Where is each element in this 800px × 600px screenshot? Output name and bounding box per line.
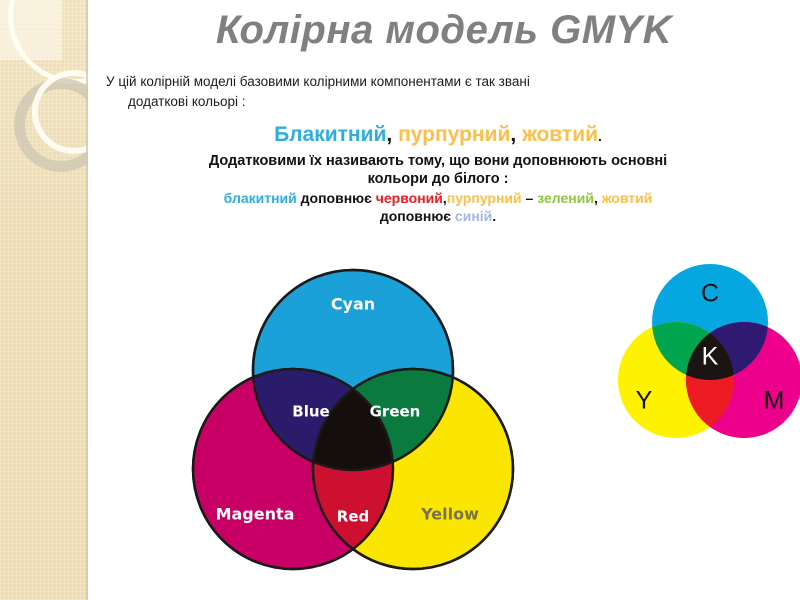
pair-word-magenta: пурпурний bbox=[447, 190, 522, 206]
venn-small-label-c: C bbox=[701, 280, 719, 308]
venn-small-label-k: K bbox=[702, 343, 719, 371]
venn-small-svg: C Y M K bbox=[618, 260, 800, 460]
venn-large-svg: Cyan Magenta Yellow Blue Green Red bbox=[188, 262, 518, 577]
pair-word-green: зелений bbox=[537, 190, 594, 206]
venn-label-magenta: Magenta bbox=[216, 505, 295, 524]
pair-text-complements-1: доповнює bbox=[297, 190, 376, 206]
venn-label-green: Green bbox=[370, 403, 421, 421]
primary-word-cyan: Блакитний bbox=[274, 123, 386, 146]
primary-word-yellow: жовтий bbox=[522, 123, 598, 146]
pair-word-blue: синій bbox=[455, 208, 492, 224]
pairs-line-2: доповнює синій. bbox=[108, 208, 768, 226]
pairs-line-1: блакитний доповнює червоний,пурпурний – … bbox=[108, 190, 768, 208]
venn-label-blue: Blue bbox=[292, 403, 329, 421]
statement-block: Блакитний, пурпурний, жовтий. Додатковим… bbox=[108, 122, 768, 226]
primaries-separator-1: , bbox=[386, 123, 398, 146]
pair-dash: – bbox=[522, 190, 538, 206]
venn-label-red: Red bbox=[337, 508, 369, 526]
intro-paragraph: У цій колірній моделі базовими колірними… bbox=[106, 72, 736, 111]
explanation-line-2: кольори до білого : bbox=[108, 170, 768, 189]
intro-line-1: У цій колірній моделі базовими колірними… bbox=[106, 72, 736, 92]
slide-content: Колірна модель GMYK У цій колірній модел… bbox=[88, 0, 800, 600]
primaries-line: Блакитний, пурпурний, жовтий. bbox=[108, 122, 768, 149]
intro-line-2: додаткові кольорі : bbox=[106, 92, 736, 112]
venn-small-label-y: Y bbox=[636, 387, 653, 415]
pair-word-yellow: жовтий bbox=[602, 190, 653, 206]
explanation-line-1: Додатковими їх називають тому, що вони д… bbox=[108, 152, 768, 171]
primaries-period: . bbox=[598, 128, 602, 144]
cmyk-venn-diagram-large: Cyan Magenta Yellow Blue Green Red bbox=[188, 262, 518, 577]
pair-word-red: червоний bbox=[376, 190, 443, 206]
cmyk-venn-diagram-small: C Y M K bbox=[618, 260, 800, 460]
pair-comma-2: , bbox=[594, 190, 602, 206]
primary-word-magenta: пурпурний bbox=[398, 123, 510, 146]
venn-small-label-m: M bbox=[764, 387, 785, 415]
decorative-sidebar bbox=[0, 0, 88, 600]
page-title: Колірна модель GMYK bbox=[88, 8, 800, 52]
pair-period: . bbox=[492, 208, 496, 224]
venn-label-yellow: Yellow bbox=[420, 505, 479, 524]
pair-text-complements-2: доповнює bbox=[380, 208, 455, 224]
pair-word-cyan: блакитний bbox=[224, 190, 297, 206]
venn-label-cyan: Cyan bbox=[331, 295, 375, 314]
primaries-separator-2: , bbox=[510, 123, 522, 146]
